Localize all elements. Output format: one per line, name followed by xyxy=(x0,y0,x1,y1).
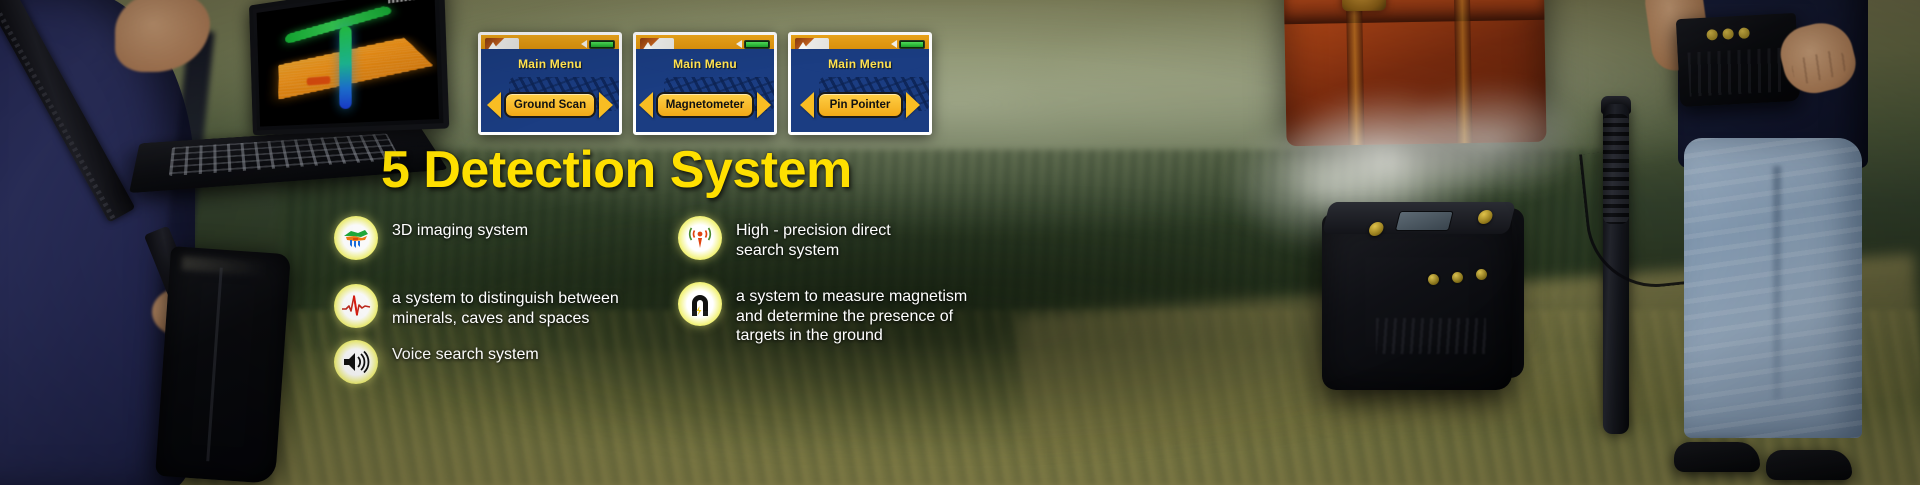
vignette-overlay xyxy=(0,0,1920,485)
mode-selector-row: Pin Pointer xyxy=(791,92,929,118)
mode-button-ground-scan[interactable]: Ground Scan xyxy=(504,92,596,118)
mode-button-pin-pointer[interactable]: Pin Pointer xyxy=(817,92,903,118)
prev-arrow-icon[interactable] xyxy=(800,92,814,118)
prev-arrow-icon[interactable] xyxy=(487,92,501,118)
mode-button-magnetometer[interactable]: Magnetometer xyxy=(656,92,755,118)
promo-banner: Main Menu Ground Scan Main Menu Magnetom… xyxy=(0,0,1920,485)
mode-selector-row: Magnetometer xyxy=(636,92,774,118)
mode-selector-row: Ground Scan xyxy=(481,92,619,118)
next-arrow-icon[interactable] xyxy=(906,92,920,118)
menu-title: Main Menu xyxy=(791,57,929,71)
menu-title: Main Menu xyxy=(481,57,619,71)
next-arrow-icon[interactable] xyxy=(757,92,771,118)
next-arrow-icon[interactable] xyxy=(599,92,613,118)
prev-arrow-icon[interactable] xyxy=(639,92,653,118)
menu-title: Main Menu xyxy=(636,57,774,71)
